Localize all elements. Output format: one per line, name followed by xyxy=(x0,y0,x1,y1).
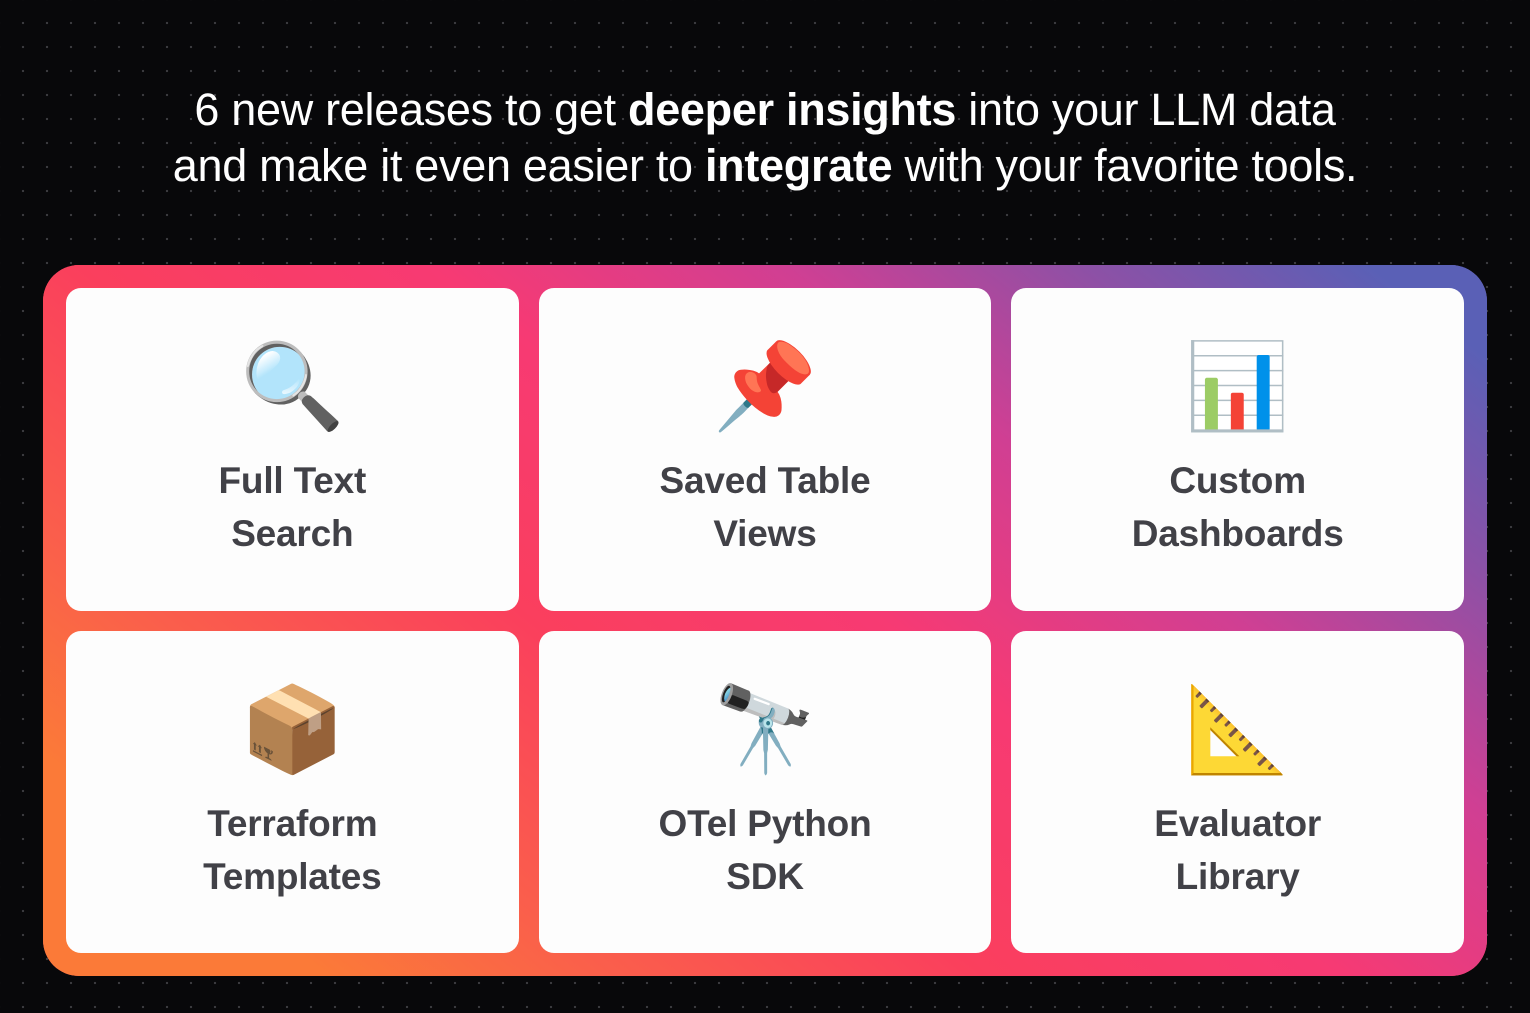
feature-card-title-line-1: Custom xyxy=(1132,454,1344,507)
feature-card-title: Full Text Search xyxy=(219,454,367,560)
feature-card-title: OTel Python SDK xyxy=(659,797,872,903)
headline-line-2: and make it even easier to integrate wit… xyxy=(50,138,1480,194)
page-headline: 6 new releases to get deeper insights in… xyxy=(0,82,1530,194)
feature-card-custom-dashboards[interactable]: 📊 Custom Dashboards xyxy=(1011,288,1464,611)
feature-card-title-line-1: Evaluator xyxy=(1154,797,1321,850)
feature-card-title: Terraform Templates xyxy=(203,797,381,903)
feature-card-title-line-1: Terraform xyxy=(203,797,381,850)
feature-card-title-line-2: Views xyxy=(660,507,871,560)
feature-card-title-line-1: Full Text xyxy=(219,454,367,507)
feature-card-title-line-2: Search xyxy=(219,507,367,560)
headline-line-2-post: with your favorite tools. xyxy=(892,140,1357,191)
feature-card-saved-table-views[interactable]: 📌 Saved Table Views xyxy=(539,288,992,611)
feature-card-terraform-templates[interactable]: 📦 Terraform Templates xyxy=(66,631,519,954)
magnifying-glass-icon: 🔍 xyxy=(240,332,345,440)
package-box-icon: 📦 xyxy=(240,675,345,783)
headline-line-1-post: into your LLM data xyxy=(956,84,1336,135)
feature-panel: 🔍 Full Text Search 📌 Saved Table Views 📊… xyxy=(43,265,1487,976)
telescope-icon: 🔭 xyxy=(713,675,818,783)
feature-card-full-text-search[interactable]: 🔍 Full Text Search xyxy=(66,288,519,611)
feature-card-title: Saved Table Views xyxy=(660,454,871,560)
feature-card-evaluator-library[interactable]: 📐 Evaluator Library xyxy=(1011,631,1464,954)
feature-card-title-line-2: SDK xyxy=(659,850,872,903)
triangular-ruler-icon: 📐 xyxy=(1185,675,1290,783)
feature-card-grid: 🔍 Full Text Search 📌 Saved Table Views 📊… xyxy=(66,288,1464,953)
headline-line-1-pre: 6 new releases to get xyxy=(194,84,628,135)
feature-card-title: Custom Dashboards xyxy=(1132,454,1344,560)
bar-chart-icon: 📊 xyxy=(1185,332,1290,440)
headline-line-1: 6 new releases to get deeper insights in… xyxy=(50,82,1480,138)
feature-card-title-line-1: Saved Table xyxy=(660,454,871,507)
headline-emphasis-integrate: integrate xyxy=(705,140,892,191)
headline-line-2-pre: and make it even easier to xyxy=(173,140,705,191)
headline-emphasis-insights: deeper insights xyxy=(628,84,956,135)
feature-card-title-line-2: Dashboards xyxy=(1132,507,1344,560)
feature-card-title-line-2: Templates xyxy=(203,850,381,903)
feature-card-title-line-2: Library xyxy=(1154,850,1321,903)
feature-card-title: Evaluator Library xyxy=(1154,797,1321,903)
feature-card-title-line-1: OTel Python xyxy=(659,797,872,850)
feature-card-otel-python-sdk[interactable]: 🔭 OTel Python SDK xyxy=(539,631,992,954)
pushpin-icon: 📌 xyxy=(713,332,818,440)
